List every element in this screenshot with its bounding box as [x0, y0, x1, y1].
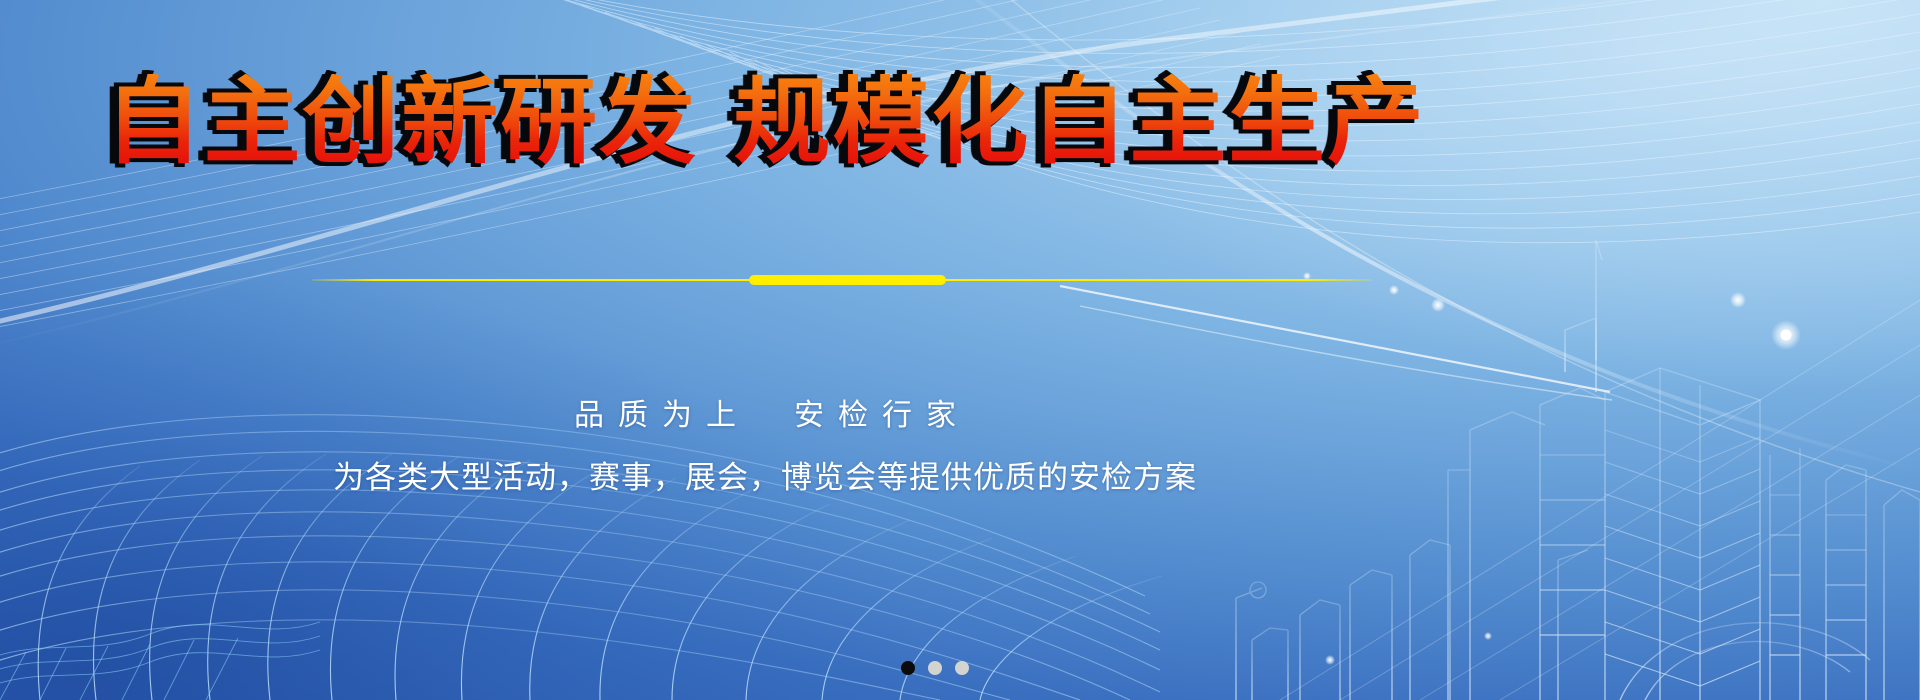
- yellow-divider-line: [312, 274, 1372, 286]
- carousel-dots[interactable]: [0, 661, 1870, 675]
- banner-headline: 自主创新研发 规模化自主生产: [104, 74, 1425, 173]
- headline-container: 自主创新研发 规模化自主生产: [0, 74, 1530, 173]
- banner-subtitle-primary: 品质为上 安检行家: [0, 390, 1530, 434]
- carousel-dot-1[interactable]: [901, 661, 915, 675]
- carousel-dot-3[interactable]: [955, 661, 969, 675]
- hero-banner-slide[interactable]: 自主创新研发 规模化自主生产 品质为上 安检行家 为各类大型活动，赛事，展会，博…: [0, 0, 1920, 700]
- banner-subtitle-secondary: 为各类大型活动，赛事，展会，博览会等提供优质的安检方案: [0, 452, 1530, 497]
- divider-thick-segment: [749, 275, 946, 285]
- carousel-dot-2[interactable]: [928, 661, 942, 675]
